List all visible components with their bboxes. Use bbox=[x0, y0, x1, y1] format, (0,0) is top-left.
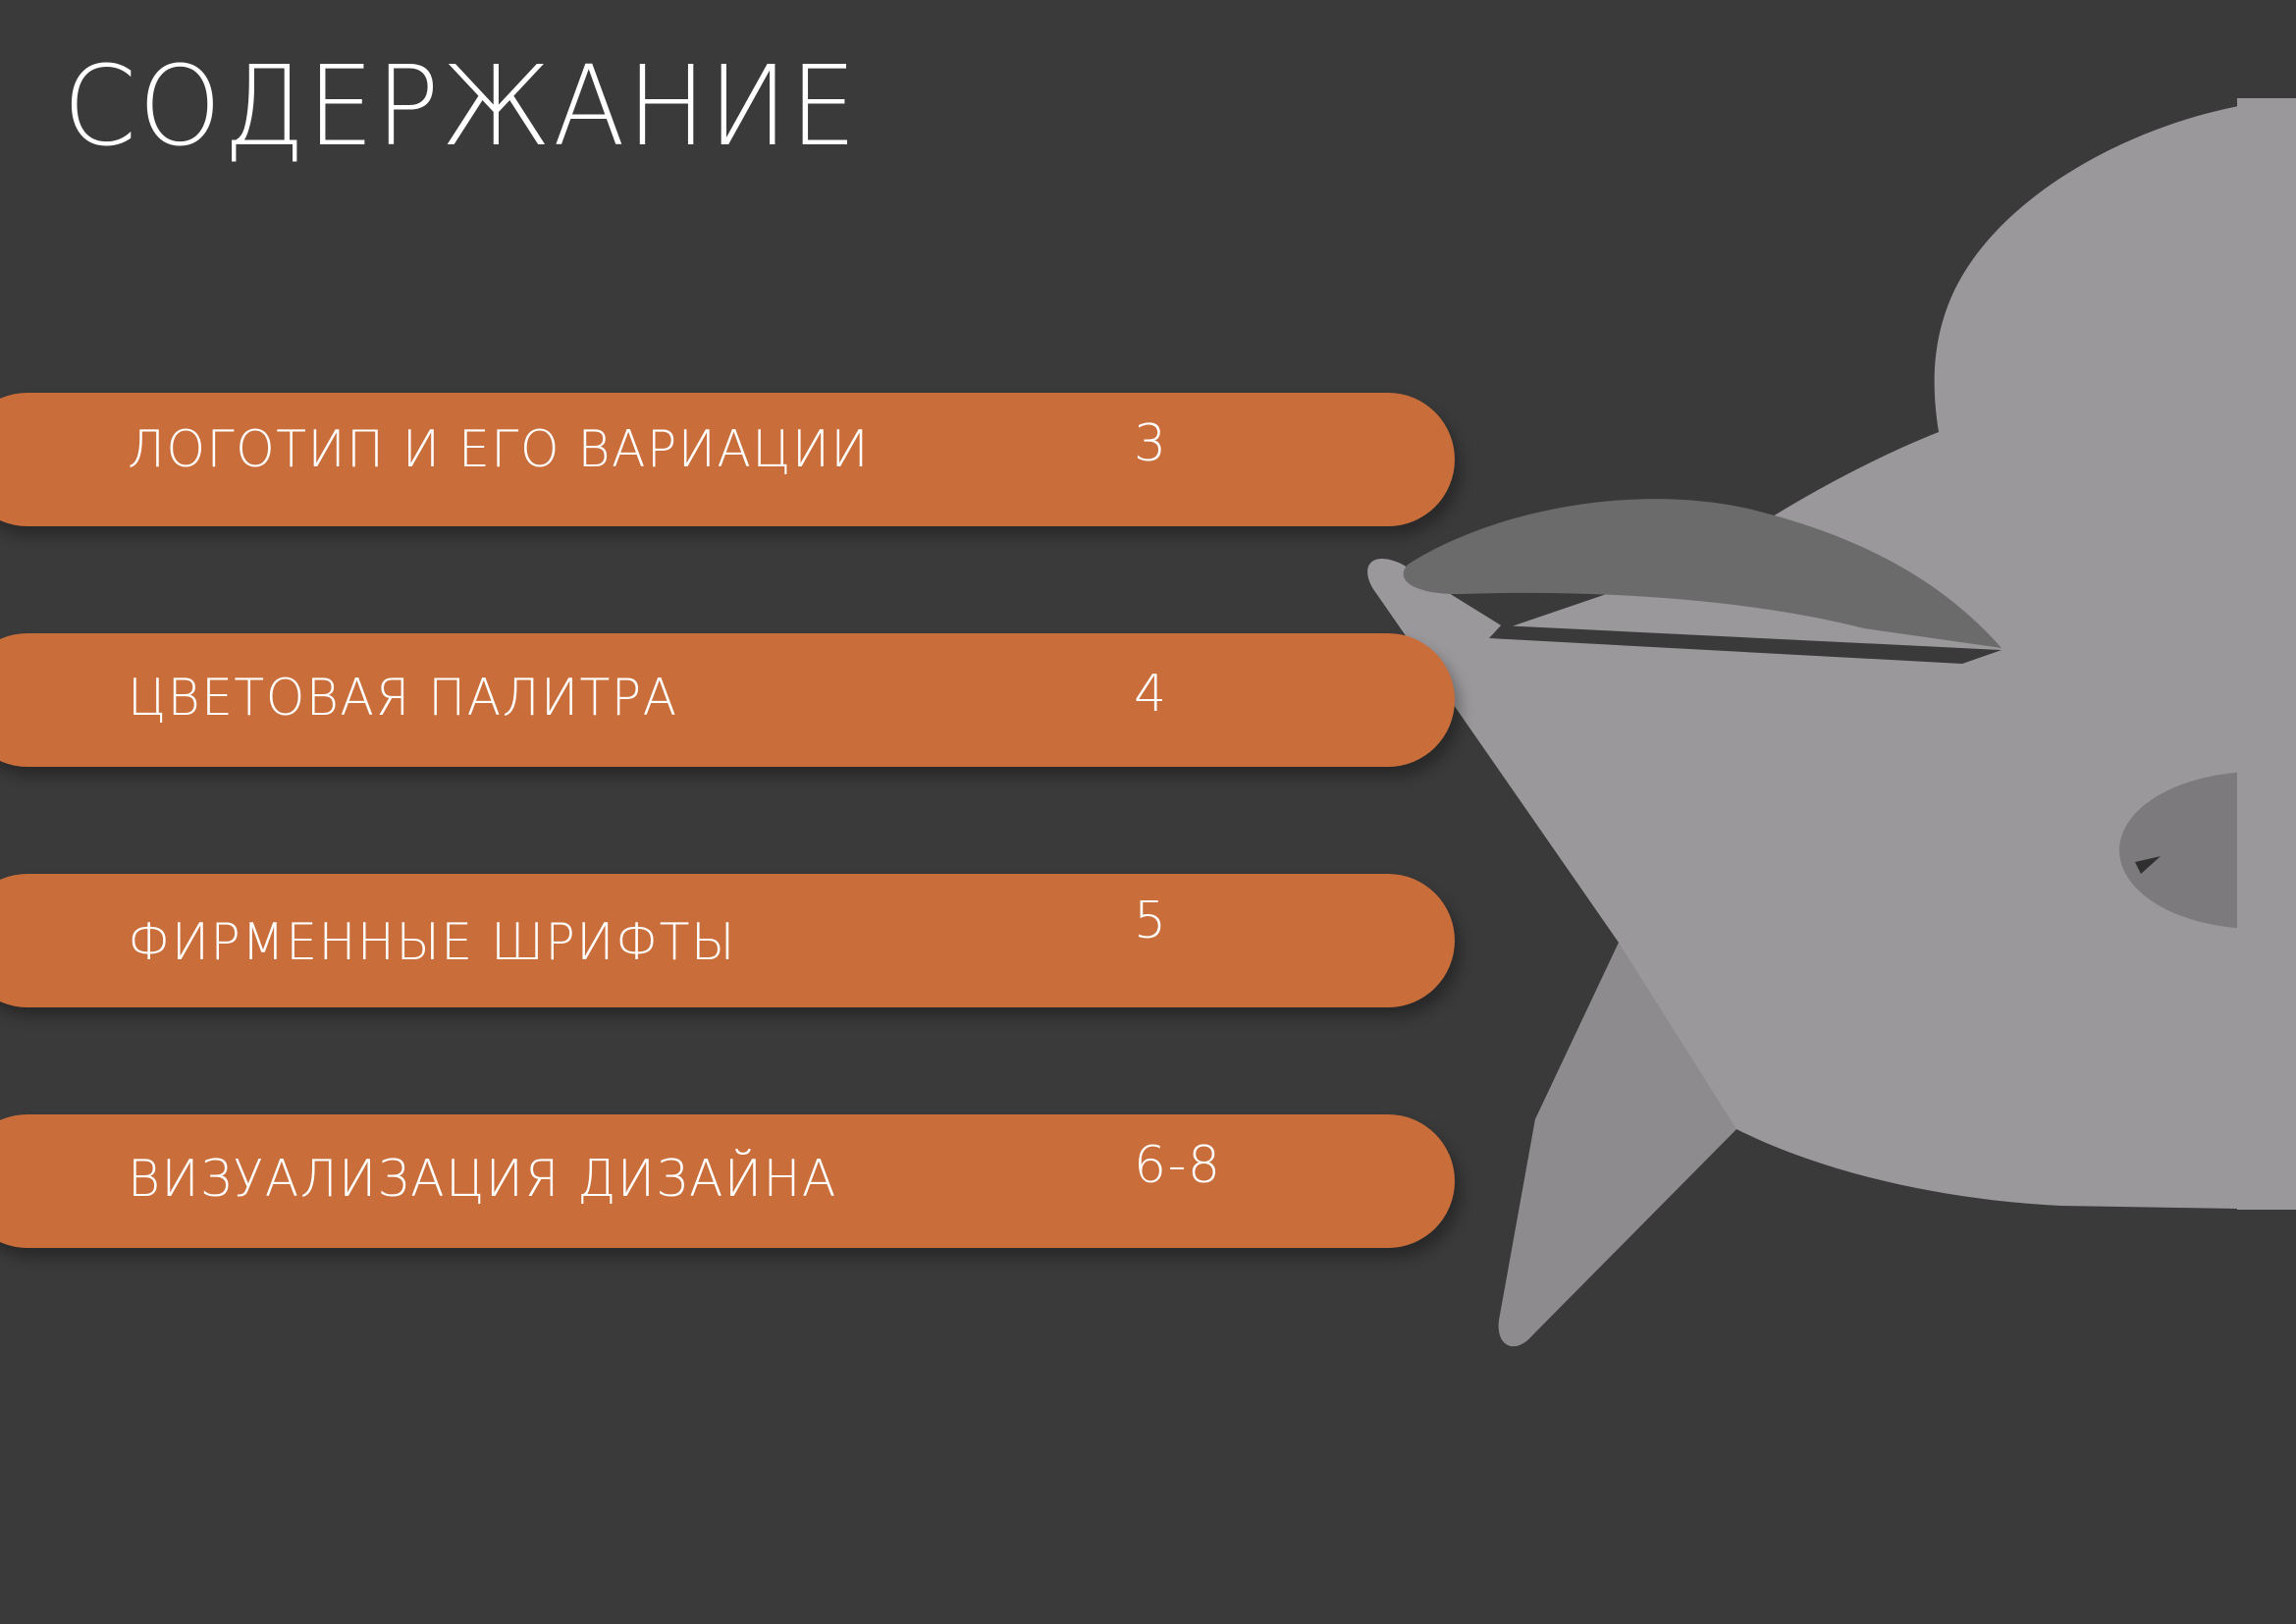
contents-item-3[interactable]: ФИРМЕННЫЕ ШРИФТЫ 5 bbox=[0, 874, 1472, 1007]
contents-list: ЛОГОТИП И ЕГО ВАРИАЦИИ 3 ЦВЕТОВАЯ ПАЛИТР… bbox=[0, 393, 1472, 1355]
slide-canvas: СОДЕРЖАНИЕ ЛОГОТИП И ЕГО ВАРИАЦИИ 3 ЦВЕТ… bbox=[0, 0, 2296, 1624]
contents-item-page-number: 6-8 bbox=[1134, 1136, 1221, 1195]
contents-item-page-number: 4 bbox=[1134, 665, 1168, 724]
contents-bar[interactable]: ЦВЕТОВАЯ ПАЛИТРА 4 bbox=[0, 633, 1455, 767]
contents-item-label: ВИЗУАЛИЗАЦИЯ ДИЗАЙНА bbox=[128, 1150, 837, 1209]
contents-item-page-number: 3 bbox=[1134, 414, 1168, 473]
contents-item-4[interactable]: ВИЗУАЛИЗАЦИЯ ДИЗАЙНА 6-8 bbox=[0, 1114, 1472, 1248]
contents-bar[interactable]: ЛОГОТИП И ЕГО ВАРИАЦИИ 3 bbox=[0, 393, 1455, 526]
contents-item-label: ФИРМЕННЫЕ ШРИФТЫ bbox=[128, 913, 736, 972]
page-title: СОДЕРЖАНИЕ bbox=[63, 47, 858, 168]
contents-item-page-number: 5 bbox=[1134, 892, 1168, 950]
contents-item-2[interactable]: ЦВЕТОВАЯ ПАЛИТРА 4 bbox=[0, 633, 1472, 767]
contents-bar[interactable]: ФИРМЕННЫЕ ШРИФТЫ 5 bbox=[0, 874, 1455, 1007]
contents-item-label: ЦВЕТОВАЯ ПАЛИТРА bbox=[128, 669, 678, 728]
contents-bar[interactable]: ВИЗУАЛИЗАЦИЯ ДИЗАЙНА 6-8 bbox=[0, 1114, 1455, 1248]
contents-item-1[interactable]: ЛОГОТИП И ЕГО ВАРИАЦИИ 3 bbox=[0, 393, 1472, 526]
contents-item-label: ЛОГОТИП И ЕГО ВАРИАЦИИ bbox=[128, 420, 870, 479]
